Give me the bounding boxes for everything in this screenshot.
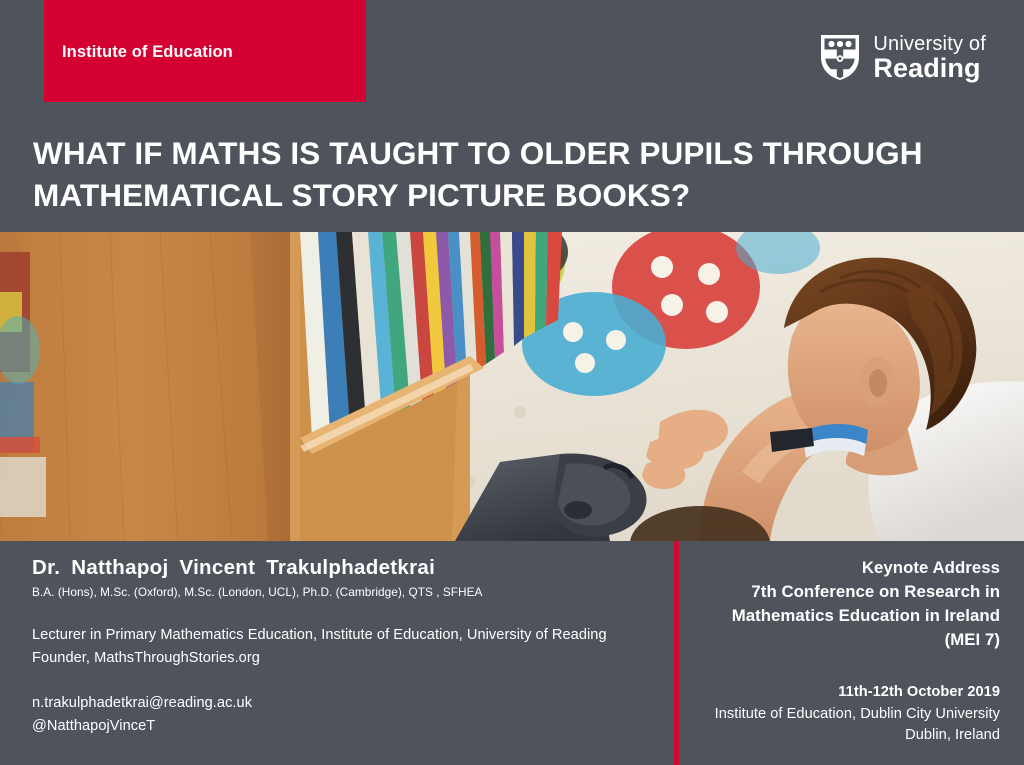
speaker-twitter-handle[interactable]: @NatthapojVinceT [32,715,662,738]
university-wordmark: University of Reading [873,34,986,82]
university-logo: University of Reading [818,33,986,82]
shield-crest-icon [818,33,862,82]
event-venue: Institute of Education, Dublin City Univ… [680,704,1000,725]
university-wordmark-line1: University of [873,34,986,54]
classroom-reading-photo: Sir Cumference and the Dragon of Pi Cind… [0,232,1024,541]
event-dates: 11th-12th October 2019 [680,682,1000,703]
event-info: Keynote Address 7th Conference on Resear… [680,556,1000,746]
footer-divider [674,541,679,765]
speaker-contacts: n.trakulphadetkrai@reading.ac.uk @Nattha… [32,692,662,738]
speaker-role-1: Lecturer in Primary Mathematics Educatio… [32,624,662,647]
speaker-qualifications: B.A. (Hons), M.Sc. (Oxford), M.Sc. (Lond… [32,585,662,599]
event-location: Dublin, Ireland [680,725,1000,746]
speaker-role-2: Founder, MathsThroughStories.org [32,647,662,670]
university-wordmark-line2: Reading [873,55,986,82]
event-headline-line4: (MEI 7) [680,628,1000,652]
speaker-info: Dr. Natthapoj Vincent Trakulphadetkrai B… [32,556,662,738]
speaker-roles: Lecturer in Primary Mathematics Educatio… [32,624,662,670]
slide-title: WHAT IF MATHS IS TAUGHT TO OLDER PUPILS … [33,133,993,216]
event-headline-line1: Keynote Address [680,556,1000,580]
event-headline: Keynote Address 7th Conference on Resear… [680,556,1000,651]
presentation-slide: Institute of Education University of Rea… [0,0,1024,765]
institute-brand-box: Institute of Education [44,0,366,102]
event-headline-line3: Mathematics Education in Ireland [680,604,1000,628]
speaker-email[interactable]: n.trakulphadetkrai@reading.ac.uk [32,692,662,715]
speaker-name: Dr. Natthapoj Vincent Trakulphadetkrai [32,556,662,580]
event-headline-line2: 7th Conference on Research in [680,580,1000,604]
institute-brand-label: Institute of Education [62,43,233,62]
event-details: 11th-12th October 2019 Institute of Educ… [680,682,1000,746]
